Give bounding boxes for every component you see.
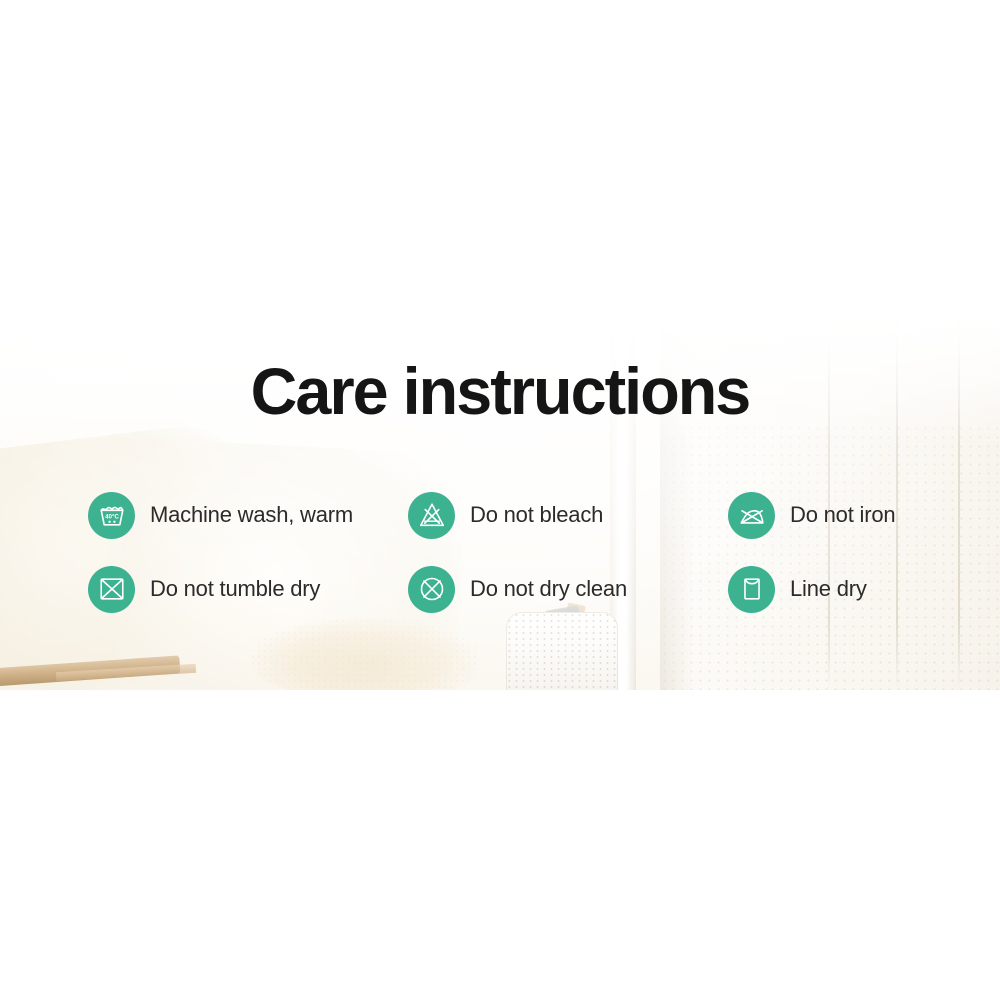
do-not-dry-clean-icon — [408, 566, 455, 613]
care-item-label: Do not tumble dry — [150, 576, 320, 602]
care-item-label: Line dry — [790, 576, 867, 602]
banner-content: Care instructions 40°C — [0, 0, 1000, 1000]
page-title: Care instructions — [10, 358, 990, 424]
care-item-do-not-tumble-dry: Do not tumble dry — [88, 566, 408, 613]
care-item-label: Do not iron — [790, 502, 895, 528]
care-item-machine-wash: 40°C Machine wash, warm — [88, 492, 408, 539]
care-item-label: Machine wash, warm — [150, 502, 353, 528]
wash-tub-40c-icon: 40°C — [88, 492, 135, 539]
do-not-iron-icon — [728, 492, 775, 539]
care-item-label: Do not dry clean — [470, 576, 627, 602]
do-not-tumble-dry-icon — [88, 566, 135, 613]
care-row: 40°C Machine wash, warm — [88, 478, 948, 552]
care-instructions-banner: Care instructions 40°C — [0, 0, 1000, 1000]
line-dry-icon — [728, 566, 775, 613]
do-not-bleach-triangle-icon — [408, 492, 455, 539]
care-row: Do not tumble dry Do not dry clean — [88, 552, 948, 626]
care-instructions-grid: 40°C Machine wash, warm — [88, 478, 948, 626]
wash-temperature-label: 40°C — [105, 513, 119, 520]
care-item-do-not-iron: Do not iron — [728, 492, 948, 539]
care-item-do-not-dry-clean: Do not dry clean — [408, 566, 728, 613]
care-item-line-dry: Line dry — [728, 566, 948, 613]
care-item-label: Do not bleach — [470, 502, 603, 528]
care-item-do-not-bleach: Do not bleach — [408, 492, 728, 539]
